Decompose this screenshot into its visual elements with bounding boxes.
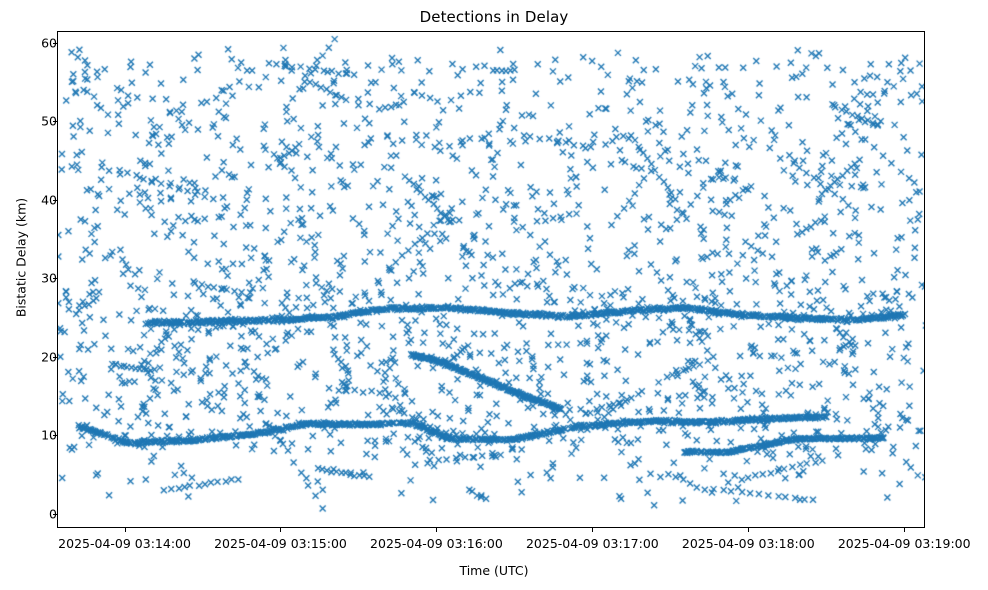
- x-axis-tick-label: 2025-04-09 03:17:00: [526, 536, 659, 551]
- x-axis-tick-mark: [125, 528, 126, 532]
- y-axis-tick-label: 0: [13, 506, 57, 521]
- x-axis-tick-mark: [436, 528, 437, 532]
- y-axis-tick-label: 60: [13, 35, 57, 50]
- y-axis-tick-label: 20: [13, 349, 57, 364]
- x-axis-tick-marks: [0, 528, 988, 533]
- x-axis-tick-label: 2025-04-09 03:15:00: [214, 536, 347, 551]
- scatter-plot-canvas: [58, 32, 925, 528]
- y-axis-tick-labels: 0102030405060: [0, 0, 57, 590]
- matplotlib-figure: Detections in Delay Bistatic Delay (km) …: [0, 0, 988, 590]
- plot-area: [57, 31, 925, 528]
- x-axis-label: Time (UTC): [0, 563, 988, 578]
- x-axis-tick-label: 2025-04-09 03:16:00: [370, 536, 503, 551]
- x-axis-tick-label: 2025-04-09 03:18:00: [682, 536, 815, 551]
- page-title: Detections in Delay: [0, 8, 988, 26]
- x-axis-tick-label: 2025-04-09 03:14:00: [58, 536, 191, 551]
- y-axis-tick-label: 50: [13, 114, 57, 129]
- x-axis-tick-mark: [748, 528, 749, 532]
- y-axis-tick-label: 40: [13, 192, 57, 207]
- y-axis-tick-label: 10: [13, 428, 57, 443]
- x-axis-tick-mark: [592, 528, 593, 532]
- y-axis-tick-label: 30: [13, 271, 57, 286]
- x-axis-tick-label: 2025-04-09 03:19:00: [838, 536, 971, 551]
- x-axis-tick-mark: [280, 528, 281, 532]
- x-axis-tick-mark: [904, 528, 905, 532]
